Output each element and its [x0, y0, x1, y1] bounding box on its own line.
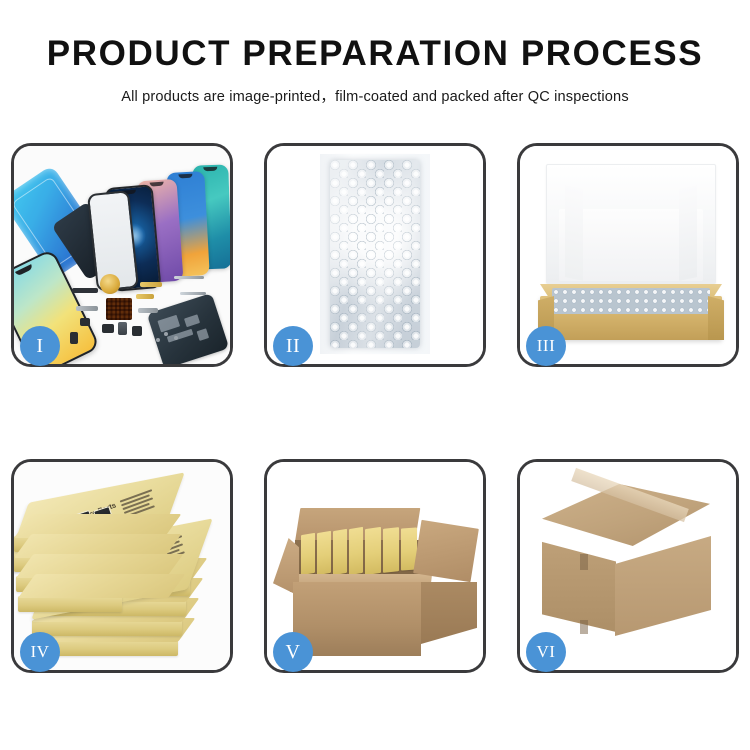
repair-tool-icon: [174, 276, 204, 279]
notch-icon: [150, 182, 164, 187]
board-chip: [197, 328, 210, 341]
step-badge-1: I: [20, 326, 60, 366]
page-title: PRODUCT PREPARATION PROCESS: [0, 0, 750, 73]
step-panel-3: III: [517, 143, 739, 367]
speaker-part-icon: [100, 274, 120, 294]
step-panel-4: Mobile Phone Spare Parts Mobile: [11, 459, 233, 673]
step-panel-6: VI: [517, 459, 739, 673]
packed-yellow-box: [349, 527, 363, 575]
carton-seam: [580, 620, 588, 634]
step-badge-5-label: V: [286, 641, 301, 664]
packed-yellow-box: [317, 531, 331, 575]
repair-tool-icon: [180, 292, 206, 295]
flex-cable-gray-icon: [76, 306, 98, 311]
small-component-icon: [80, 318, 90, 326]
packed-yellow-box: [383, 527, 399, 573]
step-badge-6: VI: [526, 632, 566, 672]
step-badge-4: IV: [20, 632, 60, 672]
sim-tray-icon: [70, 332, 78, 344]
screw-icon: [174, 336, 178, 340]
flex-cable-gold-icon: [136, 294, 154, 299]
kraft-box-tray-icon: [540, 296, 722, 340]
bubble-wrapped-contents-icon: [552, 288, 710, 314]
small-component-icon: [102, 324, 114, 333]
board-trace: [167, 329, 194, 343]
packed-yellow-box: [333, 529, 347, 575]
flex-cable-gray-icon: [138, 308, 158, 313]
white-box-lid-icon: [546, 164, 716, 284]
small-component-icon: [132, 326, 142, 336]
header: PRODUCT PREPARATION PROCESS All products…: [0, 0, 750, 106]
stacked-box-edge: [32, 620, 182, 636]
carton-front-face: [293, 582, 421, 656]
stacked-box-edge: [18, 596, 122, 612]
lid-flap-right: [679, 185, 697, 281]
step-badge-4-label: IV: [31, 642, 50, 662]
notch-icon: [203, 167, 217, 171]
carton-right-flap: [413, 520, 479, 582]
step-badge-2-label: II: [286, 335, 300, 358]
page-subtitle: All products are image-printed，film-coat…: [0, 73, 750, 106]
plastic-sheen: [330, 160, 420, 348]
carton-seam: [580, 554, 588, 570]
step-badge-6-label: VI: [537, 642, 556, 662]
step-panel-5: V: [264, 459, 486, 673]
process-steps-grid: I II: [11, 143, 739, 673]
packed-yellow-box: [301, 533, 315, 575]
screw-icon: [164, 332, 168, 336]
step-badge-5: V: [273, 632, 313, 672]
step-badge-1-label: I: [36, 335, 43, 358]
packed-yellow-box: [365, 527, 381, 575]
screw-icon: [156, 338, 160, 342]
board-chip: [157, 315, 180, 333]
battery-connector-icon: [118, 322, 127, 335]
earpiece-mesh-part-icon: [72, 288, 98, 293]
flex-cable-gold-icon: [140, 282, 162, 287]
step-badge-2: II: [273, 326, 313, 366]
board-chip: [184, 314, 200, 327]
step-badge-3-label: III: [537, 336, 555, 356]
box-side-face: [18, 574, 185, 598]
chip-array-part-icon: [106, 298, 132, 320]
step-panel-2: II: [264, 143, 486, 367]
product-preparation-infographic: PRODUCT PREPARATION PROCESS All products…: [0, 0, 750, 750]
tray-end-right: [708, 296, 724, 340]
lid-flap-left: [565, 185, 583, 281]
step-panel-1: I: [11, 143, 233, 367]
step-badge-3: III: [526, 326, 566, 366]
bubble-wrapped-product-icon: [330, 160, 420, 348]
notch-icon: [178, 174, 192, 179]
